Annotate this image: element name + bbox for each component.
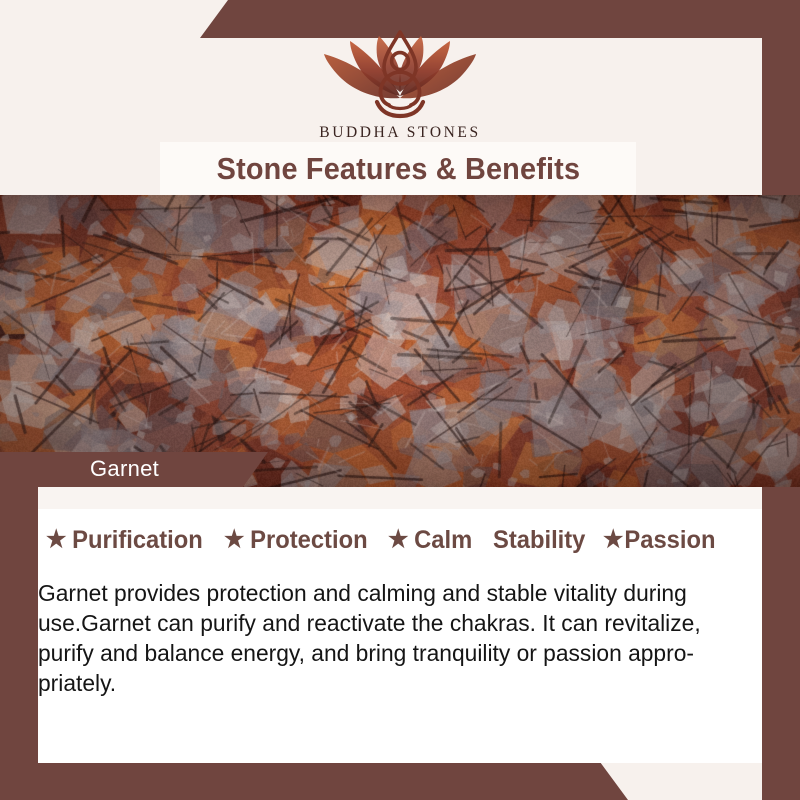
stone-description: Garnet provides protection and calming a… <box>38 578 738 698</box>
stone-info-poster: BUDDHA STONES Stone Features & Benefits … <box>0 0 800 800</box>
brand-logo: BUDDHA STONES <box>0 26 800 142</box>
benefit-item: ★Protection <box>224 528 368 553</box>
benefit-item: ★Calm <box>388 528 472 553</box>
description-line: Garnet provides protection and calming a… <box>38 578 738 608</box>
benefit-label: Passion <box>624 528 715 553</box>
content-card-top-tint <box>38 487 762 509</box>
title-band: Stone Features & Benefits <box>160 142 636 196</box>
benefit-item: Stability <box>493 528 585 553</box>
star-icon: ★ <box>388 528 408 552</box>
stone-name: Garnet <box>90 458 159 480</box>
stone-name-banner: Garnet <box>0 452 268 487</box>
benefit-item: ★Passion <box>603 528 715 553</box>
benefit-item: ★Purification <box>46 528 203 553</box>
description-line: priately. <box>38 668 738 698</box>
frame-bottom-bar <box>0 762 800 800</box>
garnet-crystal-photo <box>0 195 800 487</box>
description-line: purify and balance energy, and bring tra… <box>38 638 738 668</box>
benefit-label: Protection <box>250 528 367 553</box>
star-icon: ★ <box>224 528 244 552</box>
benefit-label: Calm <box>414 528 472 553</box>
benefit-label: Purification <box>72 528 203 553</box>
page-title: Stone Features & Benefits <box>216 151 580 187</box>
benefits-list: ★Purification★Protection★CalmStability★P… <box>46 528 758 553</box>
benefit-label: Stability <box>493 528 585 553</box>
description-line: use.Garnet can purify and reactivate the… <box>38 608 738 638</box>
star-icon: ★ <box>603 528 623 552</box>
frame-left-bar <box>0 486 38 800</box>
lotus-meditation-icon <box>307 26 493 120</box>
star-icon: ★ <box>46 528 66 552</box>
brand-name: BUDDHA STONES <box>0 124 800 142</box>
